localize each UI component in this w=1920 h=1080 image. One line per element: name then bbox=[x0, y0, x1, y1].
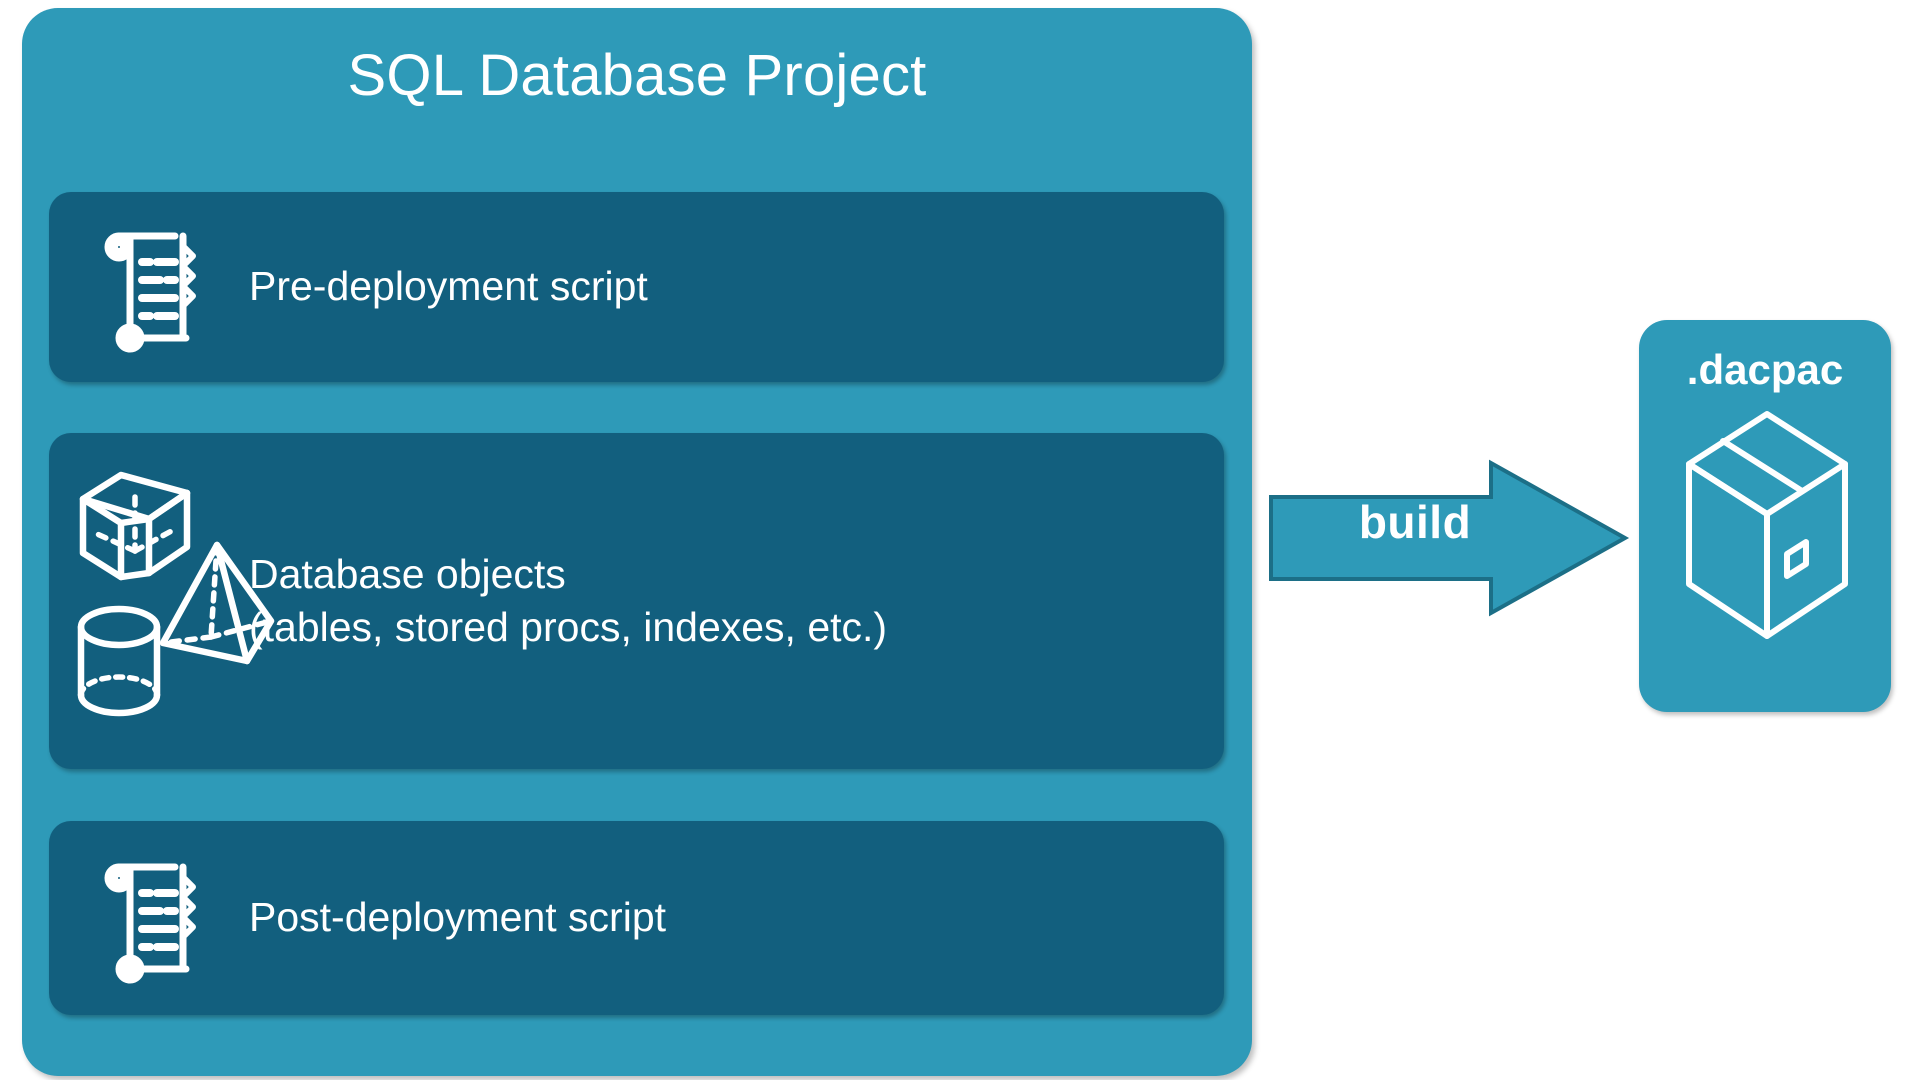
card-label-pre-deployment: Pre-deployment script bbox=[249, 260, 648, 313]
scroll-icon bbox=[97, 224, 201, 350]
sql-database-project-panel: SQL Database Project bbox=[22, 8, 1252, 1076]
shape-icons-wrapper bbox=[49, 433, 249, 769]
build-label: build bbox=[1320, 495, 1510, 549]
scroll-icon-wrapper bbox=[49, 224, 249, 350]
pyramid-icon bbox=[153, 539, 277, 669]
card-post-deployment-script[interactable]: Post-deployment script bbox=[49, 821, 1224, 1015]
dacpac-output-panel: .dacpac bbox=[1639, 320, 1891, 712]
package-box-icon bbox=[1675, 406, 1860, 666]
dacpac-title: .dacpac bbox=[1639, 346, 1891, 394]
cylinder-icon bbox=[71, 601, 171, 725]
diagram-canvas: SQL Database Project bbox=[0, 0, 1920, 1080]
page-title: SQL Database Project bbox=[22, 42, 1252, 109]
card-database-objects[interactable]: Database objects (tables, stored procs, … bbox=[49, 433, 1224, 769]
card-label-post-deployment: Post-deployment script bbox=[249, 891, 666, 944]
card-label-database-objects: Database objects (tables, stored procs, … bbox=[249, 548, 887, 655]
scroll-icon-wrapper bbox=[49, 855, 249, 981]
card-pre-deployment-script[interactable]: Pre-deployment script bbox=[49, 192, 1224, 382]
scroll-icon bbox=[97, 855, 201, 981]
